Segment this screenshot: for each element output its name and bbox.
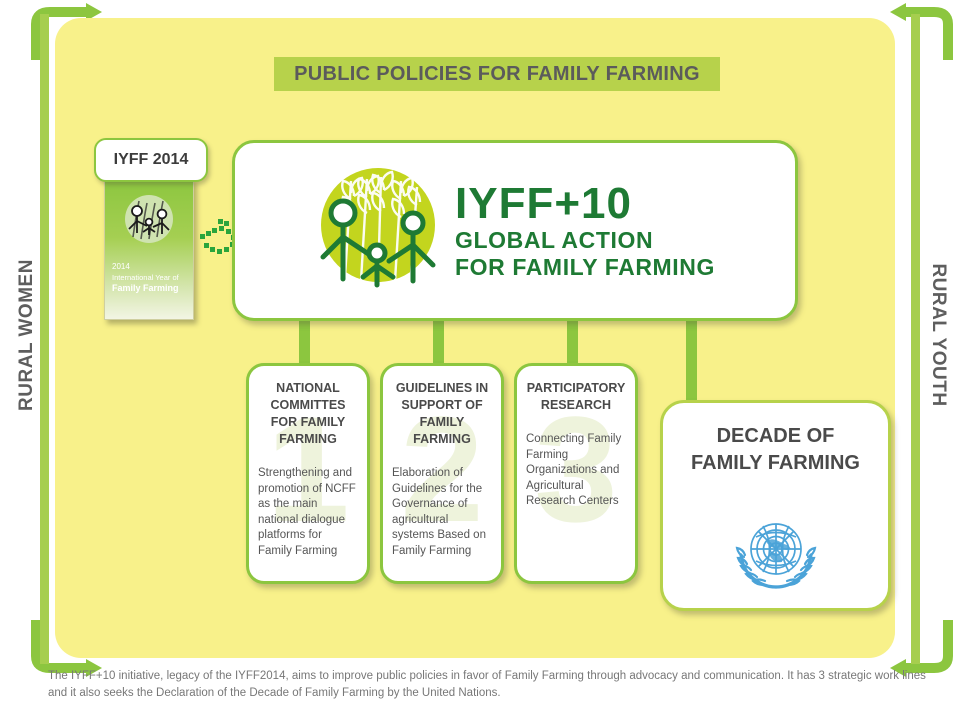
iyff-2014-label: IYFF 2014 bbox=[114, 151, 189, 169]
step-body: Elaboration of Guidelines for the Govern… bbox=[392, 466, 492, 559]
united-nations-emblem-icon bbox=[663, 511, 888, 593]
page-title-banner: PUBLIC POLICIES FOR FAMILY FARMING bbox=[274, 57, 720, 91]
iyff-wheat-family-logo-icon bbox=[317, 165, 439, 296]
step-title: PARTICIPATORY RESEARCH bbox=[524, 380, 628, 414]
poster-line2: International Year of bbox=[112, 272, 188, 283]
iyff-plus-10-logo-card: IYFF+10 GLOBAL ACTION FOR FAMILY FARMING bbox=[232, 140, 798, 321]
footer-caption: The IYFF+10 initiative, legacy of the IY… bbox=[48, 668, 928, 702]
decade-title-line-1: DECADE OF bbox=[663, 423, 888, 450]
step-title: GUIDELINES IN SUPPORT OF FAMILY FARMING bbox=[390, 380, 494, 448]
step-body: Connecting Family Farming Organizations … bbox=[526, 432, 626, 510]
poster-line3: Family Farming bbox=[112, 283, 188, 294]
poster-caption: 2014 International Year of Family Farmin… bbox=[112, 261, 188, 294]
step-title: NATIONAL COMMITTES FOR FAMILY FARMING bbox=[256, 380, 360, 448]
bracket-arrow-top-right-icon bbox=[886, 2, 958, 62]
logo-line-2: GLOBAL ACTION bbox=[455, 227, 715, 254]
right-rail bbox=[911, 14, 920, 664]
iyff-2014-pill[interactable]: IYFF 2014 bbox=[94, 138, 208, 182]
step-card-participatory-research[interactable]: 3 PARTICIPATORY RESEARCH Connecting Fami… bbox=[514, 363, 638, 584]
poster-year: 2014 bbox=[112, 261, 188, 272]
decade-of-family-farming-card[interactable]: DECADE OF FAMILY FARMING bbox=[660, 400, 891, 611]
side-label-rural-youth: RURAL YOUTH bbox=[927, 245, 949, 425]
step-body: Strengthening and promotion of NCFF as t… bbox=[258, 466, 358, 559]
decade-title-line-2: FAMILY FARMING bbox=[663, 450, 888, 477]
logo-line-3: FOR FAMILY FARMING bbox=[455, 254, 715, 281]
step-card-guidelines[interactable]: 2 GUIDELINES IN SUPPORT OF FAMILY FARMIN… bbox=[380, 363, 504, 584]
infographic-canvas: RURAL WOMEN RURAL YOUTH PUBLIC POLICIES … bbox=[0, 0, 960, 720]
iyff-2014-poster-thumbnail: 2014 International Year of Family Farmin… bbox=[104, 178, 194, 320]
left-rail bbox=[40, 14, 49, 664]
page-title: PUBLIC POLICIES FOR FAMILY FARMING bbox=[294, 63, 700, 86]
step-card-national-committees[interactable]: 1 NATIONAL COMMITTES FOR FAMILY FARMING … bbox=[246, 363, 370, 584]
logo-line-1: IYFF+10 bbox=[455, 181, 715, 227]
connector-bar-4 bbox=[686, 312, 697, 407]
iyff-poster-family-icon bbox=[123, 193, 175, 245]
side-label-rural-women: RURAL WOMEN bbox=[16, 245, 38, 425]
logo-wordmark: IYFF+10 GLOBAL ACTION FOR FAMILY FARMING bbox=[455, 181, 715, 281]
decade-title: DECADE OF FAMILY FARMING bbox=[663, 423, 888, 477]
